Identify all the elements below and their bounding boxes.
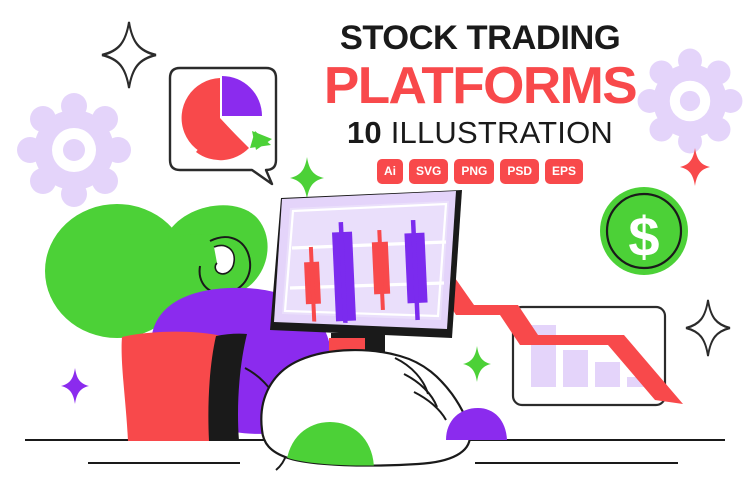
bar-2 — [563, 350, 588, 387]
sparkle-icon-outline-right — [686, 300, 730, 356]
person-hand — [261, 350, 470, 470]
sparkle-icon-green-mid — [290, 157, 324, 199]
sparkle-icon-top-left — [102, 22, 156, 88]
person-body — [122, 332, 222, 441]
poster-canvas: $ — [0, 0, 750, 500]
gear-icon-left — [17, 93, 131, 207]
sparkle-icon-green-low — [463, 346, 491, 382]
bar-3 — [595, 362, 620, 387]
sparkle-icon-red-right — [680, 148, 710, 186]
dollar-symbol: $ — [628, 205, 659, 268]
illustration-artboard: $ — [0, 0, 750, 500]
bar-chart-card — [513, 307, 665, 405]
dollar-coin-icon: $ — [600, 187, 688, 275]
gear-icon-right — [638, 49, 743, 154]
sparkle-icon-purple-left — [61, 368, 89, 404]
